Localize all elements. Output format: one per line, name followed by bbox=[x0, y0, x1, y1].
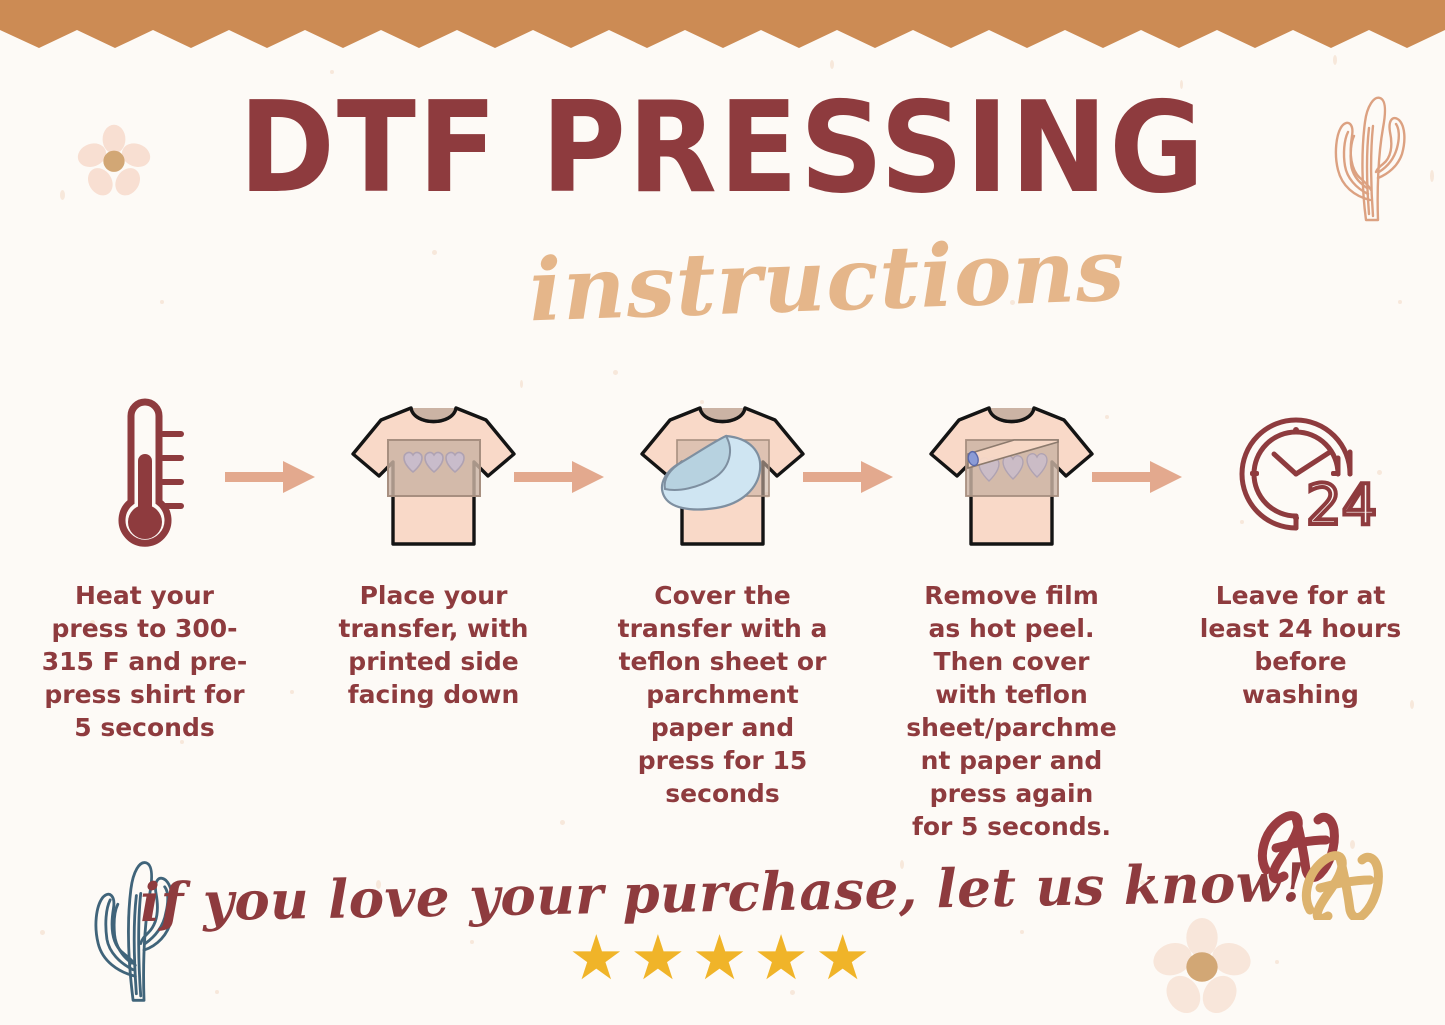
step-4-text: Remove film as hot peel. Then cover with… bbox=[906, 579, 1118, 843]
title-script-text: instructions bbox=[528, 228, 1127, 335]
thermometer-icon bbox=[97, 392, 193, 557]
step-3-text: Cover the transfer with a teflon sheet o… bbox=[617, 579, 829, 810]
poster-subtitle: instructions bbox=[0, 238, 1445, 324]
step-1-illustration bbox=[0, 392, 289, 557]
tshirt-with-transfer-icon bbox=[341, 392, 526, 557]
hh-monogram-logo bbox=[1238, 778, 1418, 920]
top-zigzag-banner bbox=[0, 0, 1445, 48]
star-icon-2: ★ bbox=[630, 928, 692, 990]
step-2-illustration bbox=[289, 392, 578, 557]
tshirt-peeling-film-icon bbox=[919, 392, 1104, 557]
clock-24-label: 24 bbox=[1306, 473, 1376, 538]
step-2: Place your transfer, with printed side f… bbox=[289, 392, 578, 711]
step-4-illustration bbox=[867, 392, 1156, 557]
poster-title: DTF PRESSING bbox=[0, 88, 1445, 209]
star-icon-3: ★ bbox=[692, 928, 754, 990]
step-1-text: Heat your press to 300-315 F and pre-pre… bbox=[39, 579, 251, 744]
footer-tagline: if you love your purchase, let us know! bbox=[139, 852, 1306, 934]
steps-row: Heat your press to 300-315 F and pre-pre… bbox=[0, 392, 1445, 843]
footer-tagline-wrap: if you love your purchase, let us know! bbox=[0, 862, 1445, 924]
dtf-pressing-instructions-poster: DTF PRESSING instructions bbox=[0, 0, 1445, 1025]
step-3-illustration bbox=[578, 392, 867, 557]
step-2-text: Place your transfer, with printed side f… bbox=[328, 579, 540, 711]
tshirt-covered-with-teflon-icon bbox=[630, 392, 815, 557]
step-4: Remove film as hot peel. Then cover with… bbox=[867, 392, 1156, 843]
clock-24-hours-icon: 24 bbox=[1226, 392, 1376, 557]
rating-stars: ★★★★★ bbox=[0, 928, 1445, 990]
step-3: Cover the transfer with a teflon sheet o… bbox=[578, 392, 867, 810]
star-icon-4: ★ bbox=[753, 928, 815, 990]
step-1: Heat your press to 300-315 F and pre-pre… bbox=[0, 392, 289, 744]
step-5-illustration: 24 bbox=[1156, 392, 1445, 557]
title-main-text: DTF PRESSING bbox=[58, 88, 1387, 209]
star-icon-5: ★ bbox=[815, 928, 877, 990]
star-icon-1: ★ bbox=[569, 928, 631, 990]
step-5-text: Leave for at least 24 hours before washi… bbox=[1195, 579, 1407, 711]
step-5: 24 Leave for at least 24 hours before wa… bbox=[1156, 392, 1445, 711]
